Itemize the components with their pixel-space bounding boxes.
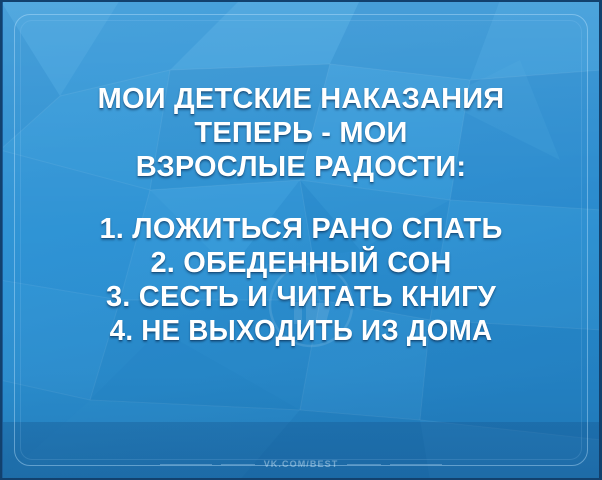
low-poly-background xyxy=(0,0,602,480)
meme-card: МОИ ДЕТСКИЕ НАКАЗАНИЯ ТЕПЕРЬ - МОИ ВЗРОС… xyxy=(0,0,602,480)
